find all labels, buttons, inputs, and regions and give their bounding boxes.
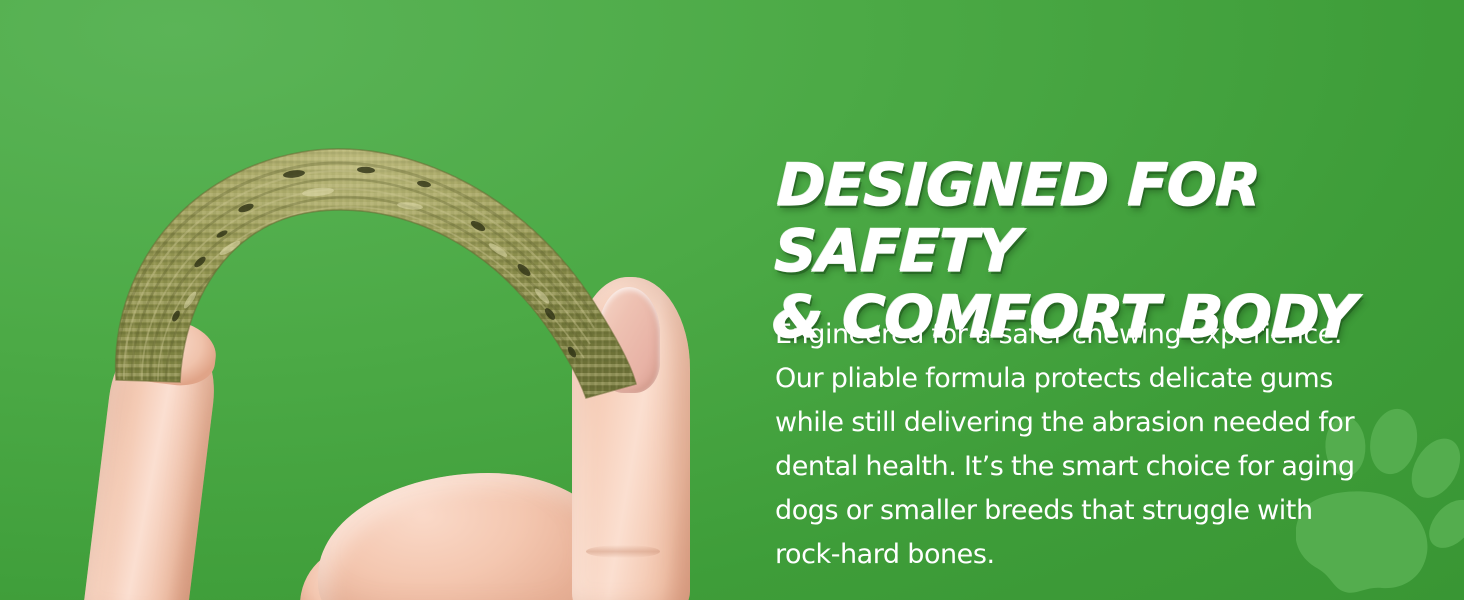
product-photo xyxy=(0,0,740,600)
hand-holding-chew xyxy=(300,395,700,600)
promo-banner: DESIGNED FOR SAFETY & COMFORT BODY Engin… xyxy=(0,0,1464,600)
thumb-crease xyxy=(586,545,660,558)
dog-chew-stick xyxy=(80,130,700,420)
body-copy: Engineered for a safer chewing experienc… xyxy=(775,313,1375,577)
text-column: DESIGNED FOR SAFETY & COMFORT BODY Engin… xyxy=(775,0,1415,600)
